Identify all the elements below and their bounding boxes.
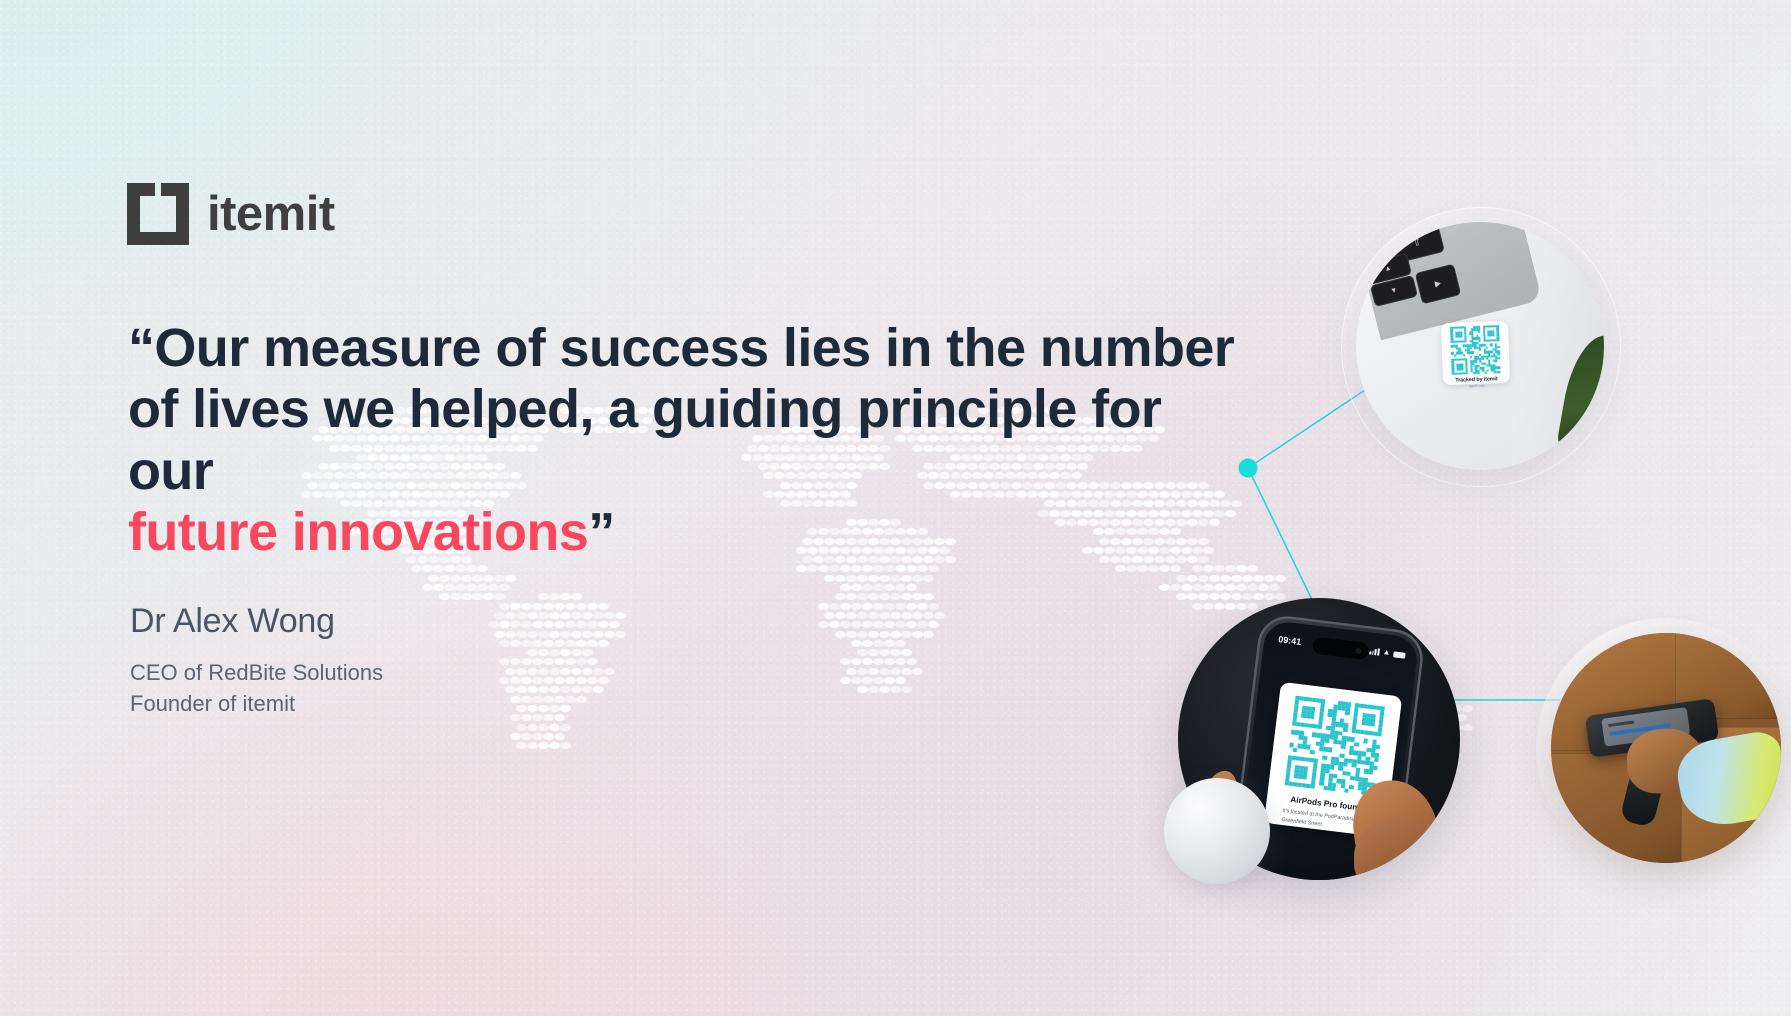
map-dot <box>818 603 829 610</box>
map-dot <box>846 593 857 600</box>
map-dot <box>1247 603 1258 610</box>
map-dot <box>879 593 890 600</box>
map-dot <box>527 724 538 731</box>
map-dot <box>565 640 576 647</box>
map-dot <box>912 612 923 619</box>
status-bar-indicators: ▲ <box>1369 646 1406 658</box>
map-dot <box>1209 593 1220 600</box>
map-dot <box>593 668 604 675</box>
map-dot <box>587 621 598 628</box>
map-dot <box>428 575 439 582</box>
map-dot <box>565 677 576 684</box>
map-dot <box>879 649 890 656</box>
map-dot <box>1159 565 1170 572</box>
map-dot <box>846 612 857 619</box>
map-dot <box>538 612 549 619</box>
sticker-sublabel: itemit.com <box>1469 383 1485 388</box>
map-dot <box>912 668 923 675</box>
map-dot <box>1242 575 1253 582</box>
map-dot <box>884 603 895 610</box>
map-dot <box>510 658 521 665</box>
map-dot <box>549 631 560 638</box>
map-dot <box>1176 575 1187 582</box>
map-dot <box>1137 565 1148 572</box>
map-dot <box>1209 575 1220 582</box>
map-dot <box>560 686 571 693</box>
map-dot <box>1170 565 1181 572</box>
map-dot <box>494 575 505 582</box>
poster-canvas: itemit “Our measure of success lies in t… <box>0 0 1791 1016</box>
map-dot <box>1225 603 1236 610</box>
map-dot <box>565 603 576 610</box>
map-dot <box>571 593 582 600</box>
map-dot <box>906 621 917 628</box>
map-dot <box>505 668 516 675</box>
map-dot <box>862 584 873 591</box>
map-dot <box>543 621 554 628</box>
map-dot <box>499 677 510 684</box>
map-dot <box>455 565 466 572</box>
map-dot <box>1264 575 1275 582</box>
map-dot <box>890 593 901 600</box>
map-dot <box>912 575 923 582</box>
map-dot <box>1176 593 1187 600</box>
map-dot <box>411 565 422 572</box>
map-dot <box>824 612 835 619</box>
map-dot <box>587 658 598 665</box>
map-dot <box>521 714 532 721</box>
map-dot <box>560 631 571 638</box>
map-dot <box>868 668 879 675</box>
map-dot <box>505 612 516 619</box>
map-dot <box>851 658 862 665</box>
quote-open-mark: “ <box>128 318 154 378</box>
map-dot <box>549 649 560 656</box>
map-dot <box>912 593 923 600</box>
map-dot <box>549 705 560 712</box>
qr-code-sticker-icon <box>1450 325 1500 375</box>
map-dot <box>1236 603 1247 610</box>
map-dot <box>1247 584 1258 591</box>
map-dot <box>527 705 538 712</box>
map-dot <box>1198 575 1209 582</box>
map-dot <box>527 742 538 749</box>
map-dot <box>1236 565 1247 572</box>
map-dot <box>1214 603 1225 610</box>
map-dot <box>494 593 505 600</box>
brand-wordmark: itemit <box>207 190 335 239</box>
map-dot <box>521 603 532 610</box>
map-dot <box>576 658 587 665</box>
map-dot <box>1214 584 1225 591</box>
map-dot <box>923 631 934 638</box>
map-dot <box>879 631 890 638</box>
map-dot <box>873 677 884 684</box>
author-role-secondary: Founder of itemit <box>130 688 383 720</box>
map-dot <box>890 668 901 675</box>
map-dot <box>521 733 532 740</box>
map-dot <box>571 631 582 638</box>
map-dot <box>895 584 906 591</box>
map-dot <box>521 640 532 647</box>
map-dot <box>890 686 901 693</box>
photo-warehouse-scanner <box>1551 633 1781 863</box>
map-dot <box>873 584 884 591</box>
map-dot <box>521 696 532 703</box>
map-dot <box>549 612 560 619</box>
map-dot <box>483 593 494 600</box>
map-dot <box>879 686 890 693</box>
map-dot <box>439 593 450 600</box>
map-dot <box>890 612 901 619</box>
map-dot <box>928 621 939 628</box>
map-dot <box>582 631 593 638</box>
map-dot <box>576 696 587 703</box>
map-dot <box>862 621 873 628</box>
map-dot <box>1203 565 1214 572</box>
map-dot <box>510 603 521 610</box>
map-dot <box>527 631 538 638</box>
quote-line-2: of lives we helped, a guiding principle … <box>128 379 1161 500</box>
map-dot <box>538 631 549 638</box>
quote-close-mark: ” <box>588 502 614 562</box>
map-dot <box>1159 584 1170 591</box>
map-dot <box>571 649 582 656</box>
map-dot <box>565 696 576 703</box>
map-dot <box>521 658 532 665</box>
map-dot <box>516 631 527 638</box>
map-dot <box>516 686 527 693</box>
map-dot <box>604 668 615 675</box>
map-dot <box>532 714 543 721</box>
map-dot <box>510 733 521 740</box>
map-dot <box>923 612 934 619</box>
map-dot <box>1225 565 1236 572</box>
map-dot <box>846 631 857 638</box>
sticker-label: Tracked by itemit <box>1455 376 1498 383</box>
map-dot <box>466 584 477 591</box>
map-dot <box>879 575 890 582</box>
map-dot <box>829 603 840 610</box>
map-dot <box>593 631 604 638</box>
map-dot <box>538 705 549 712</box>
map-dot <box>543 677 554 684</box>
map-dot <box>901 631 912 638</box>
map-dot <box>499 584 510 591</box>
map-dot <box>1203 603 1214 610</box>
map-dot <box>543 714 554 721</box>
author-name: Dr Alex Wong <box>130 600 383 643</box>
map-dot <box>840 565 851 572</box>
battery-icon <box>1393 651 1406 658</box>
map-dot <box>549 724 560 731</box>
author-role-primary: CEO of RedBite Solutions <box>130 657 383 689</box>
map-dot <box>840 584 851 591</box>
map-dot <box>890 649 901 656</box>
map-dot <box>901 593 912 600</box>
map-dot <box>851 584 862 591</box>
map-dot <box>593 686 604 693</box>
map-dot <box>851 621 862 628</box>
map-dot <box>516 724 527 731</box>
quote-accent-text: future innovations <box>128 502 588 562</box>
map-dot <box>560 612 571 619</box>
map-dot <box>582 686 593 693</box>
map-dot <box>851 603 862 610</box>
map-dot <box>895 565 906 572</box>
map-dot <box>901 575 912 582</box>
map-dot <box>835 593 846 600</box>
map-dot <box>538 742 549 749</box>
map-dot <box>560 705 571 712</box>
map-dot <box>851 565 862 572</box>
status-bar-time: 09:41 <box>1278 634 1302 647</box>
map-dot <box>824 575 835 582</box>
map-dot <box>510 696 521 703</box>
map-dot <box>796 565 807 572</box>
map-dot <box>532 733 543 740</box>
map-dot <box>807 565 818 572</box>
map-dot <box>565 658 576 665</box>
map-dot <box>923 575 934 582</box>
map-dot <box>554 640 565 647</box>
map-dot <box>521 621 532 628</box>
map-dot <box>499 603 510 610</box>
map-dot <box>873 640 884 647</box>
map-dot <box>818 565 829 572</box>
map-dot <box>890 631 901 638</box>
map-dot <box>1198 593 1209 600</box>
map-dot <box>1236 584 1247 591</box>
itemit-bracket-mark-icon <box>127 183 189 245</box>
map-dot <box>895 658 906 665</box>
map-dot <box>1275 593 1286 600</box>
map-dot <box>868 612 879 619</box>
map-dot <box>906 565 917 572</box>
map-dot <box>868 686 879 693</box>
map-dot <box>851 640 862 647</box>
map-dot <box>516 612 527 619</box>
map-dot <box>868 631 879 638</box>
map-dot <box>571 686 582 693</box>
map-dot <box>928 603 939 610</box>
map-dot <box>879 668 890 675</box>
map-dot <box>901 612 912 619</box>
map-dot <box>912 631 923 638</box>
map-dot <box>829 565 840 572</box>
map-dot <box>510 677 521 684</box>
map-dot <box>532 677 543 684</box>
map-dot <box>1170 584 1181 591</box>
map-dot <box>917 565 928 572</box>
map-dot <box>840 621 851 628</box>
map-dot <box>873 565 884 572</box>
map-dot <box>1253 575 1264 582</box>
map-dot <box>527 649 538 656</box>
map-dot <box>538 593 549 600</box>
map-dot <box>857 631 868 638</box>
map-dot <box>884 677 895 684</box>
map-dot <box>835 631 846 638</box>
map-dot <box>571 612 582 619</box>
map-dot <box>532 603 543 610</box>
map-dot <box>576 677 587 684</box>
map-dot <box>862 677 873 684</box>
map-dot <box>615 631 626 638</box>
map-dot <box>494 631 505 638</box>
map-dot <box>835 575 846 582</box>
map-dot <box>1115 565 1126 572</box>
map-dot <box>1275 575 1286 582</box>
arrow-up-icon: ▲ <box>1384 265 1392 273</box>
signal-bars-icon <box>1369 647 1380 656</box>
map-dot <box>862 565 873 572</box>
map-dot <box>516 668 527 675</box>
map-dot <box>549 742 560 749</box>
map-dot <box>873 603 884 610</box>
shift-arrow-icon: ⇧ <box>1411 237 1423 250</box>
map-dot <box>1192 565 1203 572</box>
map-dot <box>582 649 593 656</box>
map-dot <box>884 584 895 591</box>
map-dot <box>895 677 906 684</box>
map-dot <box>499 658 510 665</box>
map-dot <box>846 668 857 675</box>
map-dot <box>439 575 450 582</box>
map-dot <box>576 640 587 647</box>
map-dot <box>587 603 598 610</box>
map-dot <box>868 593 879 600</box>
map-dot <box>857 649 868 656</box>
map-dot <box>1462 724 1473 731</box>
map-dot <box>906 584 917 591</box>
map-dot <box>422 584 433 591</box>
map-dot <box>510 714 521 721</box>
arrow-down-icon: ▼ <box>1390 287 1398 295</box>
map-dot <box>868 649 879 656</box>
map-dot <box>477 584 488 591</box>
map-dot <box>598 621 609 628</box>
map-dot <box>598 677 609 684</box>
map-dot <box>1462 705 1473 712</box>
map-dot <box>554 603 565 610</box>
map-dot <box>1220 593 1231 600</box>
map-dot <box>466 565 477 572</box>
map-dot <box>499 640 510 647</box>
map-dot <box>582 612 593 619</box>
map-dot <box>554 621 565 628</box>
map-dot <box>565 621 576 628</box>
map-dot <box>433 565 444 572</box>
map-dot <box>857 575 868 582</box>
photo-laptop-qr-sticker: ⇧ ▲ ▼ ▶ Tracked by itemit itemit.com <box>1356 222 1604 470</box>
map-dot <box>1269 584 1280 591</box>
map-dot <box>461 593 472 600</box>
map-dot <box>549 668 560 675</box>
map-dot <box>906 603 917 610</box>
map-dot <box>527 668 538 675</box>
map-dot <box>884 621 895 628</box>
map-dot <box>483 575 494 582</box>
map-dot <box>818 621 829 628</box>
map-dot <box>846 575 857 582</box>
map-dot <box>928 565 939 572</box>
map-dot <box>505 631 516 638</box>
map-dot <box>450 575 461 582</box>
map-dot <box>901 668 912 675</box>
map-dot <box>895 621 906 628</box>
brand-logo[interactable]: itemit <box>127 183 335 245</box>
map-dot <box>527 612 538 619</box>
map-dot <box>857 668 868 675</box>
map-dot <box>1192 584 1203 591</box>
map-dot <box>560 649 571 656</box>
map-dot <box>450 593 461 600</box>
map-dot <box>510 640 521 647</box>
map-dot <box>1192 603 1203 610</box>
map-dot <box>472 575 483 582</box>
map-dot <box>494 612 505 619</box>
map-dot <box>543 603 554 610</box>
map-dot <box>835 612 846 619</box>
map-dot <box>543 658 554 665</box>
map-dot <box>560 668 571 675</box>
map-dot <box>543 640 554 647</box>
map-dot <box>549 686 560 693</box>
map-dot <box>571 668 582 675</box>
map-dot <box>917 603 928 610</box>
map-dot <box>576 603 587 610</box>
map-dot <box>538 686 549 693</box>
map-dot <box>554 677 565 684</box>
map-dot <box>884 658 895 665</box>
map-dot <box>1242 593 1253 600</box>
map-dot <box>873 621 884 628</box>
map-dot <box>527 686 538 693</box>
map-dot <box>1203 584 1214 591</box>
map-dot <box>840 677 851 684</box>
map-dot <box>455 584 466 591</box>
map-dot <box>851 677 862 684</box>
wifi-icon: ▲ <box>1382 648 1391 657</box>
map-dot <box>1187 575 1198 582</box>
map-dot <box>917 621 928 628</box>
map-dot <box>560 593 571 600</box>
map-dot <box>1225 584 1236 591</box>
map-dot <box>593 612 604 619</box>
map-dot <box>857 686 868 693</box>
map-dot <box>901 649 912 656</box>
map-dot <box>554 658 565 665</box>
map-dot <box>444 584 455 591</box>
dynamic-island <box>1312 636 1370 660</box>
map-dot <box>862 658 873 665</box>
map-dot <box>1258 584 1269 591</box>
map-dot <box>576 621 587 628</box>
map-dot <box>433 584 444 591</box>
map-dot <box>604 631 615 638</box>
map-dot <box>1253 593 1264 600</box>
map-dot <box>890 575 901 582</box>
map-dot <box>488 584 499 591</box>
arrow-right-icon: ▶ <box>1434 279 1442 288</box>
map-dot <box>598 640 609 647</box>
map-dot <box>422 565 433 572</box>
map-dot <box>472 593 483 600</box>
map-dot <box>604 612 615 619</box>
map-dot <box>1187 593 1198 600</box>
map-dot <box>895 603 906 610</box>
